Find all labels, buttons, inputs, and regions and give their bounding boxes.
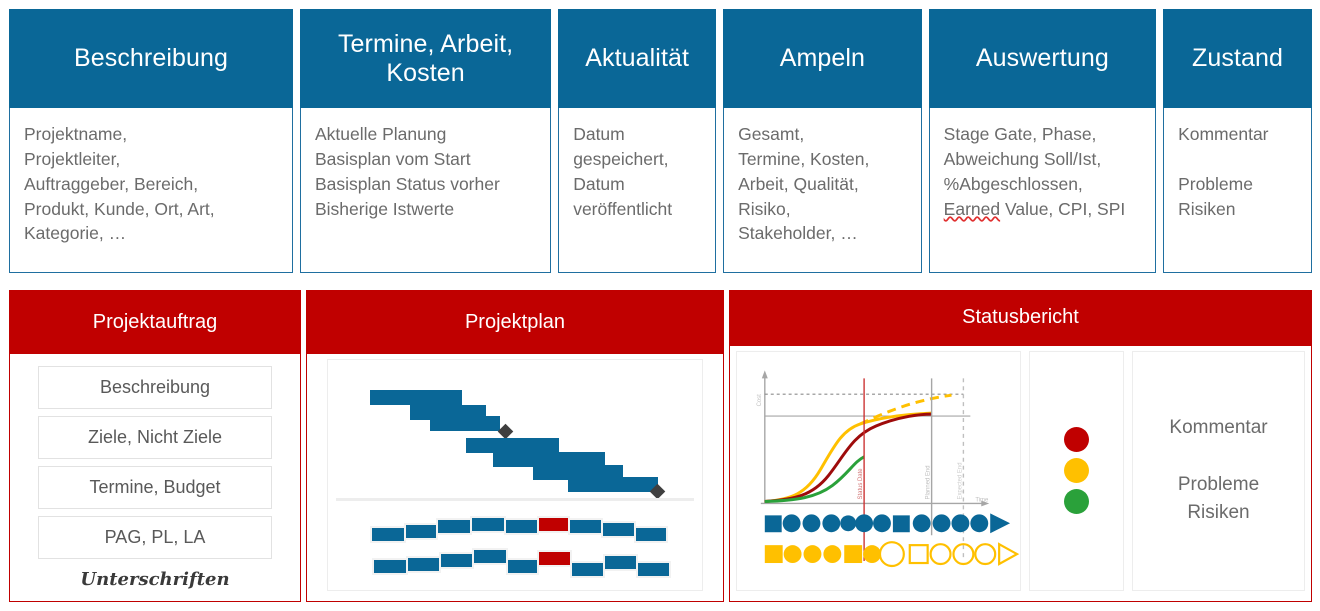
doc-body-projektplan [306,354,724,602]
phase-chip [441,554,472,567]
table-column-termine-arbeit-kosten: Termine, Arbeit, Kosten Aktuelle Planung… [300,9,551,273]
auswertung-line-3: %Abgeschlossen, [944,174,1083,194]
doc-header-projektplan: Projektplan [306,290,724,354]
table-column-beschreibung: Beschreibung Projektname, Projektleiter,… [9,9,293,273]
phase-chip [638,563,669,576]
doc-column-projektplan: Projektplan [306,290,724,602]
phase-chip-critical [539,552,570,565]
column-header-zustand: Zustand [1163,9,1312,108]
doc-column-statusbericht: Statusbericht [729,290,1312,602]
projektauftrag-item-pag-pl-la[interactable]: PAG, PL, LA [38,516,272,559]
status-date-label: Status Date [858,467,864,499]
comment-text: Kommentar Probleme Risiken [1169,414,1267,528]
phase-chip-critical [539,518,568,531]
doc-header-statusbericht: Statusbericht [729,290,1312,346]
column-body-beschreibung: Projektname, Projektleiter, Auftraggeber… [9,108,293,273]
slide-root: Beschreibung Projektname, Projektleiter,… [0,0,1320,611]
auswertung-line-2: Abweichung Soll/Ist, [944,149,1102,169]
yellow-light-icon [1064,458,1089,483]
column-header-termine-arbeit-kosten: Termine, Arbeit, Kosten [300,9,551,108]
phase-chip [438,520,470,533]
gantt-bar [370,390,462,405]
auswertung-line-1: Stage Gate, Phase, [944,124,1097,144]
table-column-zustand: Zustand Kommentar Probleme Risiken [1163,9,1312,273]
gantt-divider [336,498,694,501]
phase-chip [374,560,406,573]
column-body-termine-arbeit-kosten: Aktuelle Planung Basisplan vom Start Bas… [300,108,551,273]
table-column-aktualitaet: Aktualität Datum gespeichert, Datum verö… [558,9,716,273]
timeline-plan [765,542,1017,566]
column-body-ampeln: Gesamt, Termine, Kosten, Arbeit, Qualitä… [723,108,922,273]
statusbericht-content: Cost Time Status Date Planned End Expect… [730,346,1311,601]
auswertung-line-4-rest: Value, CPI, SPI [1000,199,1125,219]
comment-panel: Kommentar Probleme Risiken [1132,351,1305,591]
phase-chip [508,560,537,573]
traffic-light-panel [1029,351,1124,591]
doc-body-projektauftrag: Beschreibung Ziele, Nicht Ziele Termine,… [9,354,301,602]
gantt-bar [568,477,658,492]
auswertung-misspelled-word: Earned [944,199,1000,219]
column-body-auswertung: Stage Gate, Phase,Abweichung Soll/Ist,%A… [929,108,1156,273]
doc-body-statusbericht: Cost Time Status Date Planned End Expect… [729,346,1312,602]
gantt-chart [327,359,703,591]
phase-chip [570,520,601,533]
gantt-milestone-diamond [498,424,514,440]
projektauftrag-item-beschreibung[interactable]: Beschreibung [38,366,272,409]
phase-chip [605,556,636,569]
column-header-auswertung: Auswertung [929,9,1156,108]
column-body-zustand: Kommentar Probleme Risiken [1163,108,1312,273]
signature-label: Unterschriften [38,566,272,590]
attributes-table: Beschreibung Projektname, Projektleiter,… [9,9,1312,273]
phase-chip [474,550,506,563]
gantt-bar [466,438,559,453]
x-axis-label: Time [975,497,989,503]
phase-chip [636,528,666,541]
expected-end-label: Expected End [957,462,963,499]
phase-chip [372,528,404,541]
column-body-aktualitaet: Datum gespeichert, Datum veröffentlicht [558,108,716,273]
planned-end-label: Planned End [926,465,932,499]
timeline-actual [765,513,1010,533]
earned-value-svg: Cost Time Status Date Planned End Expect… [737,352,1020,590]
phase-chip [406,525,436,538]
green-light-icon [1064,489,1089,514]
doc-header-projektauftrag: Projektauftrag [9,290,301,354]
table-column-ampeln: Ampeln Gesamt, Termine, Kosten, Arbeit, … [723,9,922,273]
column-header-aktualitaet: Aktualität [558,9,716,108]
documents-table: Projektauftrag Beschreibung Ziele, Nicht… [9,290,1312,602]
y-axis-label: Cost [757,394,763,407]
doc-column-projektauftrag: Projektauftrag Beschreibung Ziele, Nicht… [9,290,301,602]
column-header-beschreibung: Beschreibung [9,9,293,108]
phase-chip [603,523,634,536]
gantt-bar [430,416,500,431]
earned-value-chart: Cost Time Status Date Planned End Expect… [736,351,1021,591]
phase-chip [408,558,439,571]
phase-chip [472,518,504,531]
column-header-ampeln: Ampeln [723,9,922,108]
phase-chip [506,520,537,533]
table-column-auswertung: Auswertung Stage Gate, Phase,Abweichung … [929,9,1156,273]
projektauftrag-item-ziele[interactable]: Ziele, Nicht Ziele [38,416,272,459]
red-light-icon [1064,427,1089,452]
projektauftrag-item-termine-budget[interactable]: Termine, Budget [38,466,272,509]
traffic-lights [1064,427,1089,514]
phase-chip [572,563,603,576]
projektauftrag-item-list: Beschreibung Ziele, Nicht Ziele Termine,… [20,362,290,593]
